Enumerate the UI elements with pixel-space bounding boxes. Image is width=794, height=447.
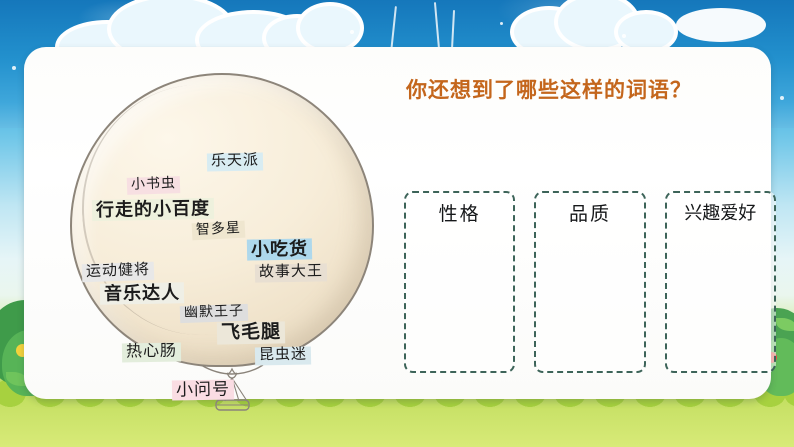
sparkle-3: [622, 34, 626, 38]
category-label: 性格: [406, 199, 513, 226]
sparkle-2: [500, 22, 503, 25]
sparkle-4: [12, 66, 16, 70]
balloon-word: 小吃货: [247, 238, 312, 260]
category-box-row: 性格 品质 兴趣爱好: [404, 191, 776, 377]
category-box-hobbies[interactable]: 兴趣爱好: [665, 191, 776, 373]
sparkle-1: [350, 30, 354, 34]
balloon-word: 智多星: [192, 221, 246, 240]
sparkle-5: [780, 96, 784, 100]
category-label: 兴趣爱好: [667, 199, 774, 225]
balloon-word: 热心肠: [122, 342, 181, 362]
content-card: 乐天派小书虫行走的小百度智多星小吃货运动健将故事大王音乐达人幽默王子飞毛腿热心肠…: [24, 47, 771, 399]
category-box-personality[interactable]: 性格: [404, 191, 515, 373]
balloon-word: 运动健将: [82, 262, 155, 282]
balloon-word: 昆虫迷: [255, 347, 311, 366]
category-label: 品质: [536, 199, 643, 226]
balloon-word: 行走的小百度: [92, 198, 214, 221]
balloon-word: 音乐达人: [100, 282, 184, 304]
balloon-word: 幽默王子: [180, 304, 249, 323]
balloon-word: 飞毛腿: [217, 321, 285, 344]
balloon-word: 小书虫: [127, 176, 181, 195]
slide-canvas: 乐天派小书虫行走的小百度智多星小吃货运动健将故事大王音乐达人幽默王子飞毛腿热心肠…: [0, 0, 794, 447]
prompt-title: 你还想到了哪些这样的词语？: [406, 77, 778, 104]
balloon-word: 乐天派: [207, 153, 263, 172]
category-box-quality[interactable]: 品质: [534, 191, 645, 373]
prompt-panel: 你还想到了哪些这样的词语？ 性格 品质 兴趣爱好: [394, 75, 774, 375]
balloon-word: 小问号: [172, 379, 234, 400]
cloud-far-right: [676, 8, 766, 42]
balloon-word: 故事大王: [255, 263, 327, 282]
balloon-area: 乐天派小书虫行走的小百度智多星小吃货运动健将故事大王音乐达人幽默王子飞毛腿热心肠…: [52, 65, 392, 395]
